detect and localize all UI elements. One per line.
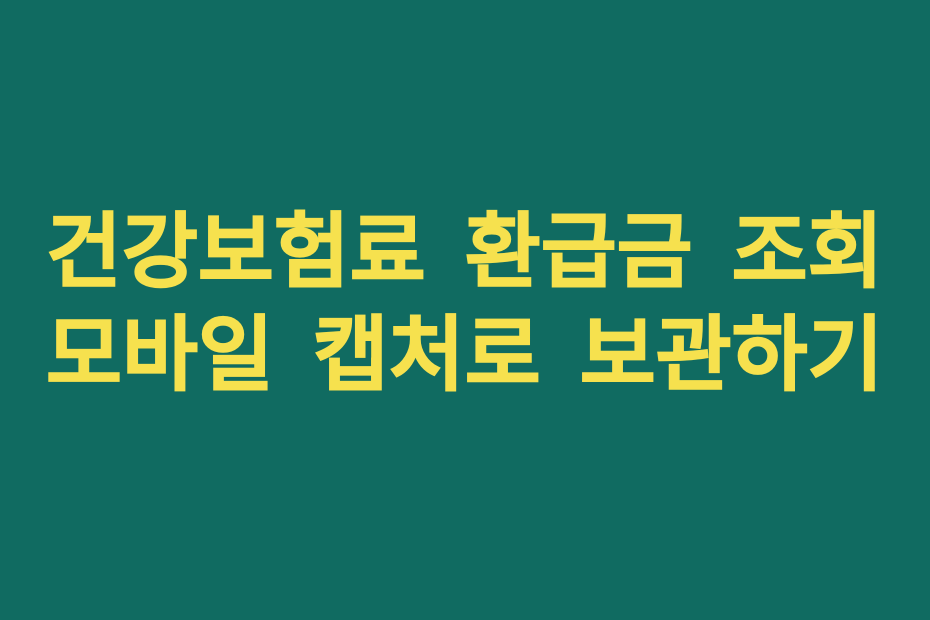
headline-block: 건강보험료 환급금 조회 모바일 캡처로 보관하기 bbox=[0, 201, 930, 407]
headline-line-2: 모바일 캡처로 보관하기 bbox=[0, 304, 930, 407]
thumbnail-card: 건강보험료 환급금 조회 모바일 캡처로 보관하기 bbox=[0, 0, 930, 620]
headline-line-1: 건강보험료 환급금 조회 bbox=[0, 201, 930, 304]
